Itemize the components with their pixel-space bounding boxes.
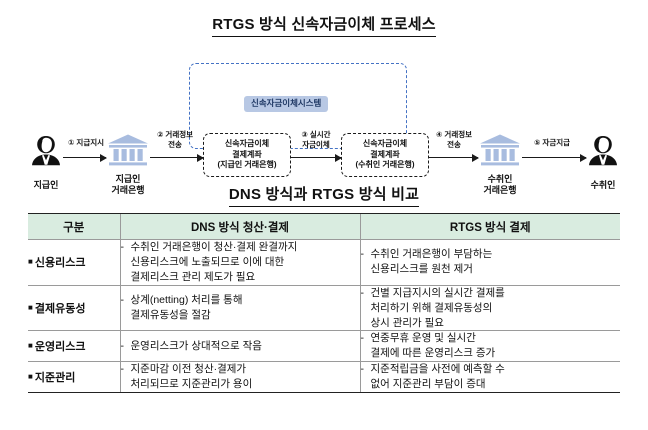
flow-arrow-2 bbox=[150, 157, 203, 158]
table-cell-rtgs: -지준적립금을 사전에 예측할 수없어 지준관리 부담이 증대 bbox=[360, 362, 620, 393]
table-cell-category: ■결제유동성 bbox=[28, 285, 120, 331]
flow-2-text: 거래정보 bbox=[165, 130, 193, 139]
square-bullet-icon: ■ bbox=[28, 341, 33, 350]
flow-4-text-2: 전송 bbox=[447, 140, 461, 149]
table-cell-category-label: 운영리스크 bbox=[35, 341, 86, 353]
settlement-account-payer-line1: 신속자금이체 bbox=[225, 139, 269, 149]
person-icon bbox=[586, 133, 620, 176]
table-cell-rtgs: -수취인 거래은행이 부담하는신용리스크를 원천 제거 bbox=[360, 240, 620, 286]
table-header-rtgs: RTGS 방식 결제 bbox=[360, 214, 620, 240]
table-header-row: 구분 DNS 방식 청산·결제 RTGS 방식 결제 bbox=[28, 214, 620, 240]
flow-arrow-3 bbox=[291, 157, 341, 158]
dash-bullet-icon: - bbox=[361, 286, 370, 301]
flow-5-text: 자금지급 bbox=[542, 138, 570, 147]
table-cell-dns: -수취인 거래은행이 청산·결제 완결까지신용리스크에 노출되므로 이에 대한결… bbox=[120, 240, 360, 286]
page-title-process-text: RTGS 방식 신속자금이체 프로세스 bbox=[212, 13, 436, 37]
settlement-account-payer: 신속자금이체 결제계좌 (지급인 거래은행) bbox=[203, 133, 291, 177]
flow-3-text: 실시간 bbox=[310, 130, 331, 139]
table-header-category: 구분 bbox=[28, 214, 120, 240]
person-icon bbox=[29, 133, 63, 176]
flow-1-text: 지급지시 bbox=[76, 138, 104, 147]
settlement-account-payee-line1: 신속자금이체 bbox=[363, 139, 407, 149]
table-cell-category: ■신용리스크 bbox=[28, 240, 120, 286]
flow-label-3: ③ 실시간 자금이체 bbox=[289, 130, 343, 150]
settlement-account-payee-line2: 결제계좌 bbox=[370, 150, 399, 160]
page-title-process: RTGS 방식 신속자금이체 프로세스 bbox=[0, 13, 648, 37]
dns-rtgs-comparison-table: 구분 DNS 방식 청산·결제 RTGS 방식 결제 ■신용리스크-수취인 거래… bbox=[28, 213, 620, 393]
flow-4-text: 거래정보 bbox=[444, 130, 472, 139]
dash-bullet-icon: - bbox=[121, 293, 130, 308]
square-bullet-icon: ■ bbox=[28, 303, 33, 312]
text-line: 지준적립금을 사전에 예측할 수 bbox=[371, 362, 621, 377]
table-cell-rtgs: -연중무휴 운영 및 실시간결제에 따른 운영리스크 증가 bbox=[360, 331, 620, 362]
page-title-compare-text: DNS 방식과 RTGS 방식 비교 bbox=[229, 183, 419, 207]
page-title-compare: DNS 방식과 RTGS 방식 비교 bbox=[0, 183, 648, 207]
table-cell-dns: -상계(netting) 처리를 통해결제유동성을 절감 bbox=[120, 285, 360, 331]
text-line: 없어 지준관리 부담이 증대 bbox=[371, 377, 621, 392]
dash-bullet-icon: - bbox=[361, 247, 370, 262]
text-line: 결제유동성을 절감 bbox=[131, 308, 360, 323]
table-cell-category: ■지준관리 bbox=[28, 362, 120, 393]
table-row: ■지준관리-지준마감 이전 청산·결제가처리되므로 지준관리가 용이-지준적립금… bbox=[28, 362, 620, 393]
dash-bullet-icon: - bbox=[361, 331, 370, 346]
flow-1-number: ① bbox=[68, 138, 74, 147]
table-cell-rtgs-text: 수취인 거래은행이 부담하는신용리스크를 원천 제거 bbox=[371, 247, 621, 277]
text-line: 처리하기 위해 결제유동성의 bbox=[371, 301, 621, 316]
text-line: 운영리스크가 상대적으로 작음 bbox=[131, 339, 360, 354]
settlement-account-payee-line3: (수취인 거래은행) bbox=[355, 160, 414, 170]
table-cell-rtgs: -건별 지급지시의 실시간 결제를처리하기 위해 결제유동성의상시 관리가 필요 bbox=[360, 285, 620, 331]
flow-arrow-4 bbox=[429, 157, 478, 158]
table-cell-category: ■운영리스크 bbox=[28, 331, 120, 362]
table-cell-category-label: 지준관리 bbox=[35, 372, 75, 384]
flow-label-2: ② 거래정보 전송 bbox=[146, 130, 204, 150]
table-cell-rtgs-text: 연중무휴 운영 및 실시간결제에 따른 운영리스크 증가 bbox=[371, 331, 621, 361]
flow-3-number: ③ bbox=[301, 130, 307, 139]
square-bullet-icon: ■ bbox=[28, 257, 33, 266]
table-row: ■운영리스크-운영리스크가 상대적으로 작음-연중무휴 운영 및 실시간결제에 … bbox=[28, 331, 620, 362]
text-line: 처리되므로 지준관리가 용이 bbox=[131, 377, 360, 392]
flow-5-number: ⑤ bbox=[534, 138, 540, 147]
flow-arrow-1 bbox=[63, 157, 106, 158]
text-line: 수취인 거래은행이 청산·결제 완결까지 bbox=[131, 240, 360, 255]
dash-bullet-icon: - bbox=[121, 362, 130, 377]
dash-bullet-icon: - bbox=[121, 339, 130, 354]
table-row: ■신용리스크-수취인 거래은행이 청산·결제 완결까지신용리스크에 노출되므로 … bbox=[28, 240, 620, 286]
table-cell-dns-text: 상계(netting) 처리를 통해결제유동성을 절감 bbox=[131, 293, 360, 323]
text-line: 건별 지급지시의 실시간 결제를 bbox=[371, 286, 621, 301]
table-cell-dns-text: 지준마감 이전 청산·결제가처리되므로 지준관리가 용이 bbox=[131, 362, 360, 392]
flow-4-number: ④ bbox=[436, 130, 442, 139]
bank-building-icon bbox=[106, 154, 150, 171]
flow-label-1: ① 지급지시 bbox=[60, 138, 112, 148]
table-row: ■결제유동성-상계(netting) 처리를 통해결제유동성을 절감-건별 지급… bbox=[28, 285, 620, 331]
settlement-account-payer-line3: (지급인 거래은행) bbox=[217, 160, 276, 170]
text-line: 결제리스크 관리 제도가 필요 bbox=[131, 270, 360, 285]
text-line: 상시 관리가 필요 bbox=[371, 316, 621, 331]
flow-label-5: ⑤ 자금지급 bbox=[519, 138, 585, 148]
table-cell-dns: -지준마감 이전 청산·결제가처리되므로 지준관리가 용이 bbox=[120, 362, 360, 393]
text-line: 신용리스크에 노출되므로 이에 대한 bbox=[131, 255, 360, 270]
dash-bullet-icon: - bbox=[361, 362, 370, 377]
bank-building-icon bbox=[478, 154, 522, 171]
table-cell-dns-text: 수취인 거래은행이 청산·결제 완결까지신용리스크에 노출되므로 이에 대한결제… bbox=[131, 240, 360, 285]
rtgs-process-diagram: 신속자금이체시스템 지급인 ① 지급지시 bbox=[0, 45, 648, 170]
dash-bullet-icon: - bbox=[121, 240, 130, 255]
fast-payment-system-label: 신속자금이체시스템 bbox=[244, 96, 328, 112]
table-header-dns: DNS 방식 청산·결제 bbox=[120, 214, 360, 240]
settlement-account-payee: 신속자금이체 결제계좌 (수취인 거래은행) bbox=[341, 133, 429, 177]
table-cell-rtgs-text: 지준적립금을 사전에 예측할 수없어 지준관리 부담이 증대 bbox=[371, 362, 621, 392]
flow-3-text-2: 자금이체 bbox=[302, 140, 330, 149]
flow-arrow-5 bbox=[522, 157, 586, 158]
table-cell-category-label: 결제유동성 bbox=[35, 303, 86, 315]
flow-2-number: ② bbox=[157, 130, 163, 139]
table-cell-category-label: 신용리스크 bbox=[35, 257, 86, 269]
flow-label-4: ④ 거래정보 전송 bbox=[425, 130, 483, 150]
text-line: 수취인 거래은행이 부담하는 bbox=[371, 247, 621, 262]
text-line: 결제에 따른 운영리스크 증가 bbox=[371, 346, 621, 361]
table-cell-rtgs-text: 건별 지급지시의 실시간 결제를처리하기 위해 결제유동성의상시 관리가 필요 bbox=[371, 286, 621, 331]
flow-2-text-2: 전송 bbox=[168, 140, 182, 149]
text-line: 신용리스크를 원천 제거 bbox=[371, 262, 621, 277]
table-cell-dns-text: 운영리스크가 상대적으로 작음 bbox=[131, 339, 360, 354]
text-line: 지준마감 이전 청산·결제가 bbox=[131, 362, 360, 377]
table-cell-dns: -운영리스크가 상대적으로 작음 bbox=[120, 331, 360, 362]
square-bullet-icon: ■ bbox=[28, 372, 33, 381]
text-line: 상계(netting) 처리를 통해 bbox=[131, 293, 360, 308]
settlement-account-payer-line2: 결제계좌 bbox=[232, 150, 261, 160]
text-line: 연중무휴 운영 및 실시간 bbox=[371, 331, 621, 346]
